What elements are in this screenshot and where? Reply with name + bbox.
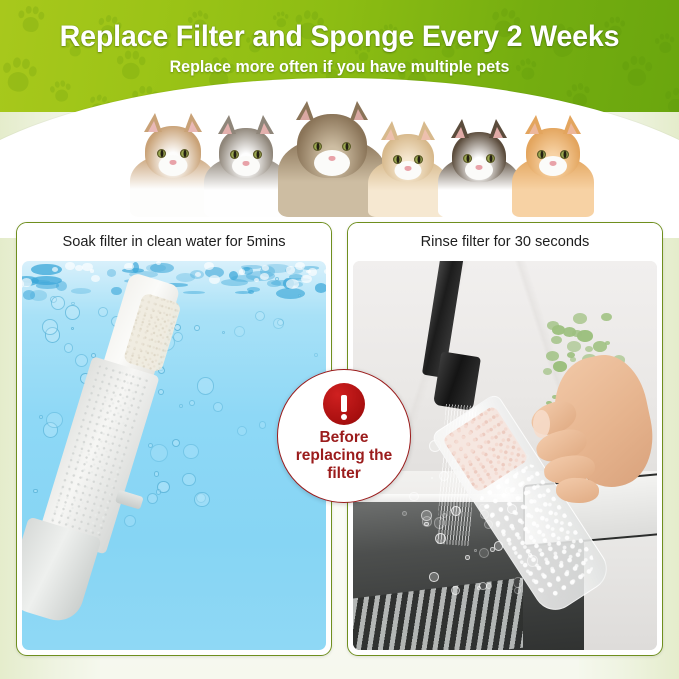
kitten-ear-inner-left bbox=[300, 109, 310, 120]
kitten-muzzle bbox=[539, 156, 567, 176]
bubble bbox=[42, 319, 58, 335]
page-subtitle: Replace more often if you have multiple … bbox=[10, 58, 669, 77]
water-wave bbox=[229, 271, 238, 280]
bubble bbox=[222, 331, 225, 334]
water-droplet bbox=[434, 517, 446, 529]
kitten-nose bbox=[243, 161, 250, 166]
bubble bbox=[182, 473, 195, 486]
kitten-ear-inner-right bbox=[493, 127, 503, 138]
kitten-eye-left bbox=[313, 142, 322, 151]
water-droplet bbox=[442, 513, 447, 518]
kitten-head bbox=[145, 126, 201, 178]
bubble bbox=[124, 515, 136, 527]
kitten-head bbox=[526, 128, 580, 178]
paw-print-icon bbox=[661, 86, 679, 112]
water-wave bbox=[23, 290, 35, 300]
infographic-page: Replace Filter and Sponge Every 2 Weeks … bbox=[0, 0, 679, 679]
kitten-eye-right bbox=[342, 142, 351, 151]
water-foam bbox=[254, 278, 259, 282]
water-wave bbox=[107, 269, 116, 277]
kitten-ear-inner-left bbox=[148, 121, 158, 132]
water-wave bbox=[315, 283, 326, 292]
water-foam bbox=[91, 275, 100, 282]
kitten-4 bbox=[368, 134, 448, 217]
water-foam bbox=[82, 263, 92, 271]
water-droplet bbox=[513, 577, 523, 587]
kitten-eye-right bbox=[180, 149, 189, 158]
exclamation-circle-icon bbox=[323, 383, 365, 425]
bubble bbox=[147, 493, 158, 504]
kitten-ear-inner-left bbox=[222, 123, 232, 134]
kitten-eye-right bbox=[414, 155, 423, 164]
bubble bbox=[183, 444, 198, 459]
kitten-nose bbox=[405, 166, 412, 171]
kitten-eye-left bbox=[463, 154, 472, 163]
kitten-6 bbox=[512, 128, 594, 217]
kitten-eye-right bbox=[560, 150, 569, 159]
kitten-row-image bbox=[96, 112, 596, 217]
bubble bbox=[51, 296, 65, 310]
kitten-nose bbox=[550, 161, 557, 166]
water-wave bbox=[267, 280, 280, 288]
bubble bbox=[273, 318, 283, 328]
kitten-nose bbox=[476, 165, 483, 170]
kitten-ear-inner-right bbox=[567, 123, 577, 134]
water-foam bbox=[65, 262, 75, 270]
bubble bbox=[65, 305, 80, 320]
kitten-head bbox=[219, 128, 273, 178]
water-droplet bbox=[439, 471, 449, 481]
kitten-head bbox=[382, 134, 434, 182]
kitten-ear-inner-right bbox=[354, 109, 364, 120]
kitten-ear-inner-left bbox=[385, 129, 395, 140]
bubble bbox=[197, 377, 214, 394]
warning-line-2: replacing the bbox=[283, 447, 405, 465]
panel-rinse-caption-bar: Rinse filter for 30 seconds bbox=[348, 223, 662, 261]
panel-rinse-caption: Rinse filter for 30 seconds bbox=[421, 234, 590, 250]
kitten-nose bbox=[170, 160, 177, 165]
water-foam bbox=[52, 267, 58, 272]
paw-print-icon bbox=[49, 79, 73, 105]
bubble bbox=[64, 343, 73, 352]
warning-badge-text: Before replacing the filter bbox=[283, 429, 405, 483]
kitten-nose bbox=[329, 156, 336, 161]
kitten-eye-left bbox=[230, 150, 239, 159]
kitten-eye-left bbox=[157, 149, 166, 158]
bubble bbox=[39, 415, 43, 419]
water-wave bbox=[146, 264, 166, 272]
bubble bbox=[237, 426, 247, 436]
water-droplet bbox=[514, 587, 521, 594]
bubble bbox=[71, 302, 74, 305]
kitten-muzzle bbox=[232, 156, 260, 176]
panel-soak-caption-bar: Soak filter in clean water for 5mins bbox=[17, 223, 331, 261]
bubble bbox=[154, 471, 159, 476]
page-title: Replace Filter and Sponge Every 2 Weeks bbox=[10, 20, 669, 54]
bubble bbox=[156, 489, 162, 495]
kitten-muzzle bbox=[314, 150, 350, 176]
kitten-ear-inner-right bbox=[260, 123, 270, 134]
kitten-ear-inner-right bbox=[421, 129, 431, 140]
water-droplet bbox=[409, 492, 418, 501]
kitten-eye-right bbox=[253, 150, 262, 159]
water-foam bbox=[324, 269, 326, 274]
kitten-2 bbox=[204, 128, 288, 217]
panel-soak-caption: Soak filter in clean water for 5mins bbox=[62, 234, 285, 250]
bubble bbox=[298, 294, 301, 297]
water-droplet bbox=[465, 555, 470, 560]
water-droplet bbox=[451, 586, 460, 595]
kitten-5 bbox=[438, 132, 520, 217]
water-foam bbox=[204, 262, 214, 270]
kitten-eye-right bbox=[486, 154, 495, 163]
water-droplet bbox=[490, 547, 494, 551]
bubble bbox=[46, 412, 62, 428]
kitten-head bbox=[452, 132, 506, 182]
faucet-spray-head bbox=[433, 352, 481, 412]
warning-line-1: Before bbox=[283, 429, 405, 447]
bubble bbox=[33, 489, 38, 494]
water-wave bbox=[36, 282, 59, 288]
water-wave bbox=[248, 290, 254, 294]
kitten-eye-left bbox=[393, 155, 402, 164]
kitten-head bbox=[297, 114, 367, 178]
water-foam bbox=[286, 279, 298, 289]
bubble bbox=[75, 354, 88, 367]
water-wave bbox=[71, 288, 91, 294]
water-foam bbox=[209, 275, 220, 284]
water-foam bbox=[286, 266, 295, 273]
bubble bbox=[213, 402, 223, 412]
kitten-ear-inner-right bbox=[188, 121, 198, 132]
warning-badge: Before replacing the filter bbox=[277, 369, 411, 503]
plant-leaf bbox=[573, 313, 587, 324]
kitten-ear-inner-left bbox=[455, 127, 465, 138]
plant-leaf bbox=[601, 313, 612, 321]
water-droplet bbox=[486, 583, 492, 589]
water-droplet bbox=[474, 549, 476, 551]
kitten-muzzle bbox=[159, 155, 188, 176]
water-droplet bbox=[402, 511, 407, 516]
kitten-muzzle bbox=[465, 160, 493, 180]
water-foam bbox=[301, 275, 312, 284]
water-droplet bbox=[429, 572, 439, 582]
kitten-eye-left bbox=[537, 150, 546, 159]
kitten-ear-inner-left bbox=[529, 123, 539, 134]
warning-line-3: filter bbox=[283, 465, 405, 483]
bubble bbox=[259, 421, 266, 428]
hand-holding-filter bbox=[523, 331, 651, 510]
